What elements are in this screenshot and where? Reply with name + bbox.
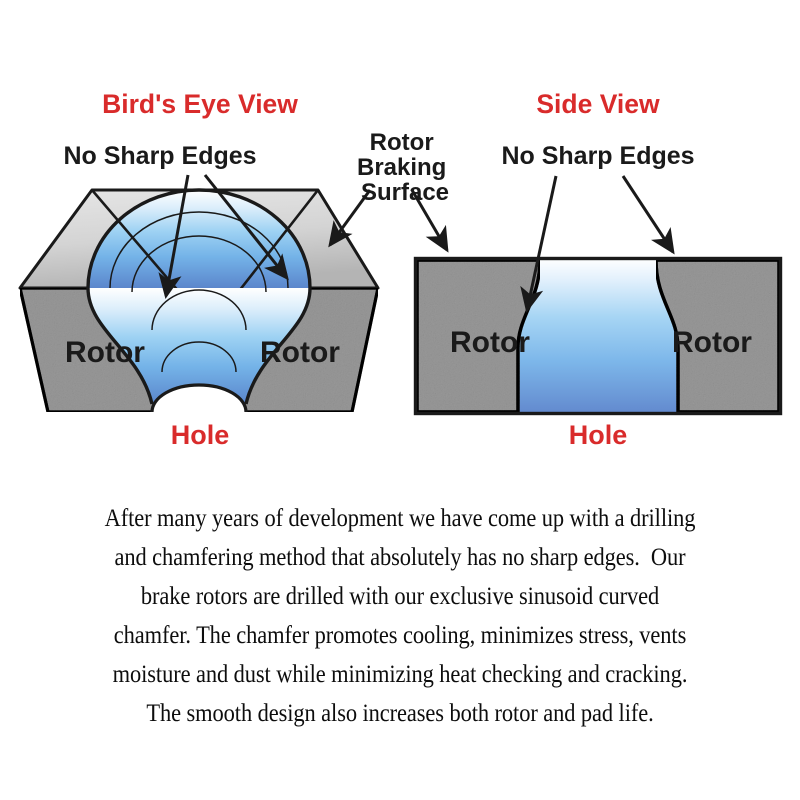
diagram-area: Bird's Eye View No Sharp Edges Rotor Bra… <box>0 0 800 480</box>
side-view-rotor-label-right: Rotor <box>672 326 752 359</box>
caption-paragraph: After many years of development we have … <box>0 498 800 732</box>
side-view-no-sharp-edges-label: No Sharp Edges <box>501 142 694 170</box>
caption-line: and chamfering method that absolutely ha… <box>48 537 752 576</box>
caption-line: brake rotors are drilled with our exclus… <box>48 576 752 615</box>
caption-line: chamfer. The chamfer promotes cooling, m… <box>48 615 752 654</box>
birds-eye-rotor-label-left: Rotor <box>65 336 145 369</box>
birds-eye-rotor-label-right: Rotor <box>260 336 340 369</box>
arrow-side-no-sharp-edges-right <box>623 176 673 252</box>
page-root: Bird's Eye View No Sharp Edges Rotor Bra… <box>0 0 800 800</box>
birds-eye-hole-label: Hole <box>171 420 230 450</box>
birds-eye-view-panel: Bird's Eye View No Sharp Edges Rotor Bra… <box>20 89 453 450</box>
side-view-panel: Side View No Sharp Edges Rotor Rotor Hol… <box>412 89 781 450</box>
rotor-chamfer-figure: Bird's Eye View No Sharp Edges Rotor Bra… <box>0 0 800 480</box>
caption-line: moisture and dust while minimizing heat … <box>48 654 752 693</box>
side-view-title: Side View <box>536 89 660 119</box>
caption-line: After many years of development we have … <box>48 498 752 537</box>
caption-line: The smooth design also increases both ro… <box>48 693 752 732</box>
rotor-braking-surface-label: Rotor Braking Surface <box>357 129 453 206</box>
side-view-hole-label: Hole <box>569 420 628 450</box>
side-view-rotor-label-left: Rotor <box>450 326 530 359</box>
birds-eye-title: Bird's Eye View <box>102 89 298 119</box>
birds-eye-no-sharp-edges-label: No Sharp Edges <box>63 142 256 170</box>
